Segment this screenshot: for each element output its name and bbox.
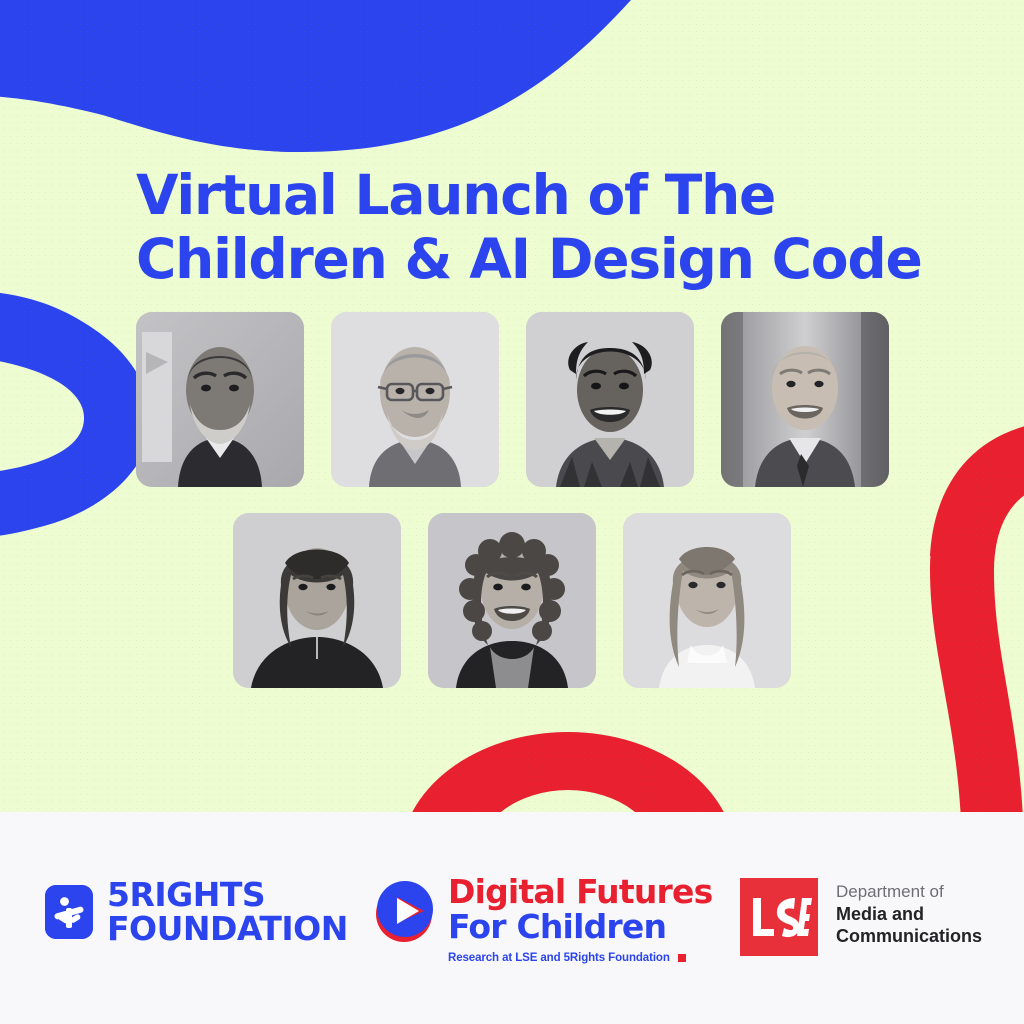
- blue-wave-shape: [0, 0, 600, 152]
- logo-lse-line-1: Department of: [836, 881, 982, 903]
- speaker-portrait: [331, 312, 499, 487]
- logo-dfc-line-2: For Children: [448, 909, 712, 944]
- speaker-portrait: [721, 312, 889, 487]
- speaker-row-1: [0, 312, 1024, 487]
- speaker-portrait-grid: [0, 312, 1024, 688]
- blue-wave-body: [0, 0, 640, 152]
- logo-dfc-text: Digital Futures For Children Research at…: [448, 872, 712, 964]
- logo-lse-line-2: Media and: [836, 903, 982, 925]
- logo-digital-futures-for-children: Digital Futures For Children Research at…: [372, 872, 712, 964]
- title-line-2: Children & AI Design Code: [136, 227, 936, 291]
- red-square-icon: [678, 954, 686, 962]
- logo-dfc-tagline-text: Research at LSE and 5Rights Foundation: [448, 952, 670, 964]
- logo-lse-media-communications: Department of Media and Communications: [740, 878, 982, 956]
- footer-logo-band: 5RIGHTS FOUNDATION Digital Futures For: [0, 812, 1024, 1024]
- lse-wordmark-icon: [740, 878, 818, 956]
- logo-lse-text: Department of Media and Communications: [836, 878, 982, 947]
- title-line-1: Virtual Launch of The: [136, 163, 936, 227]
- logo-5rights-text: 5RIGHTS FOUNDATION: [107, 878, 348, 946]
- logo-lse-line-3: Communications: [836, 925, 982, 947]
- logo-dfc-line-1: Digital Futures: [448, 874, 712, 909]
- speaker-portrait: [623, 513, 791, 688]
- speaker-portrait: [136, 312, 304, 487]
- speaker-portrait: [526, 312, 694, 487]
- child-figure-icon: [45, 885, 93, 939]
- logo-5rights-foundation: 5RIGHTS FOUNDATION: [45, 878, 348, 946]
- event-poster: Virtual Launch of The Children & AI Desi…: [0, 0, 1024, 1024]
- logo-5rights-line-1: 5RIGHTS: [107, 878, 348, 912]
- page-title: Virtual Launch of The Children & AI Desi…: [136, 163, 936, 291]
- play-button-icon: [372, 878, 438, 944]
- logo-5rights-line-2: FOUNDATION: [107, 912, 348, 946]
- speaker-row-2: [0, 513, 1024, 688]
- logo-dfc-tagline: Research at LSE and 5Rights Foundation: [448, 952, 712, 964]
- speaker-portrait: [428, 513, 596, 688]
- speaker-portrait: [233, 513, 401, 688]
